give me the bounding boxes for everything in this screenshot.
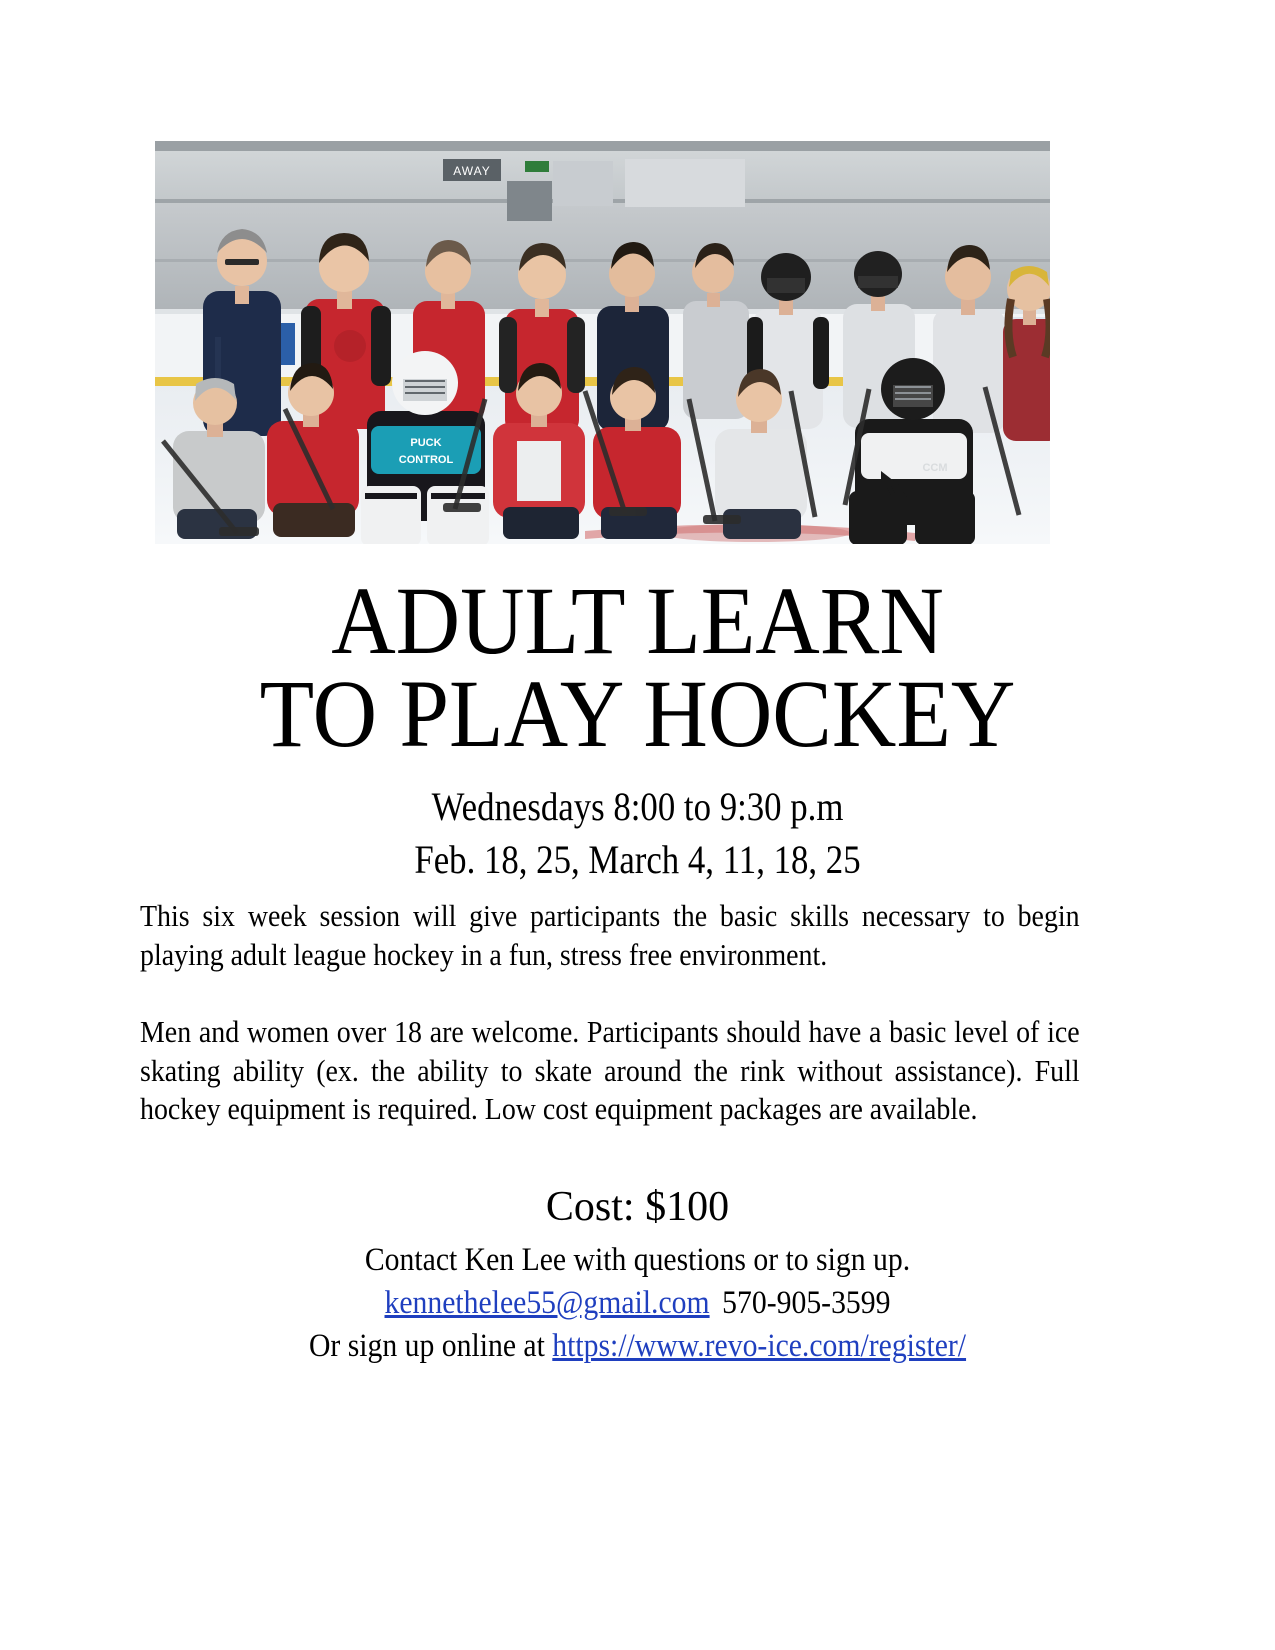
contact-instruction: Contact Ken Lee with questions or to sig… xyxy=(64,1240,1212,1280)
online-signup-prefix: Or sign up online at xyxy=(309,1328,552,1364)
description-paragraph-1: This six week session will give particip… xyxy=(140,897,1080,974)
online-signup-row: Or sign up online at https://www.revo-ic… xyxy=(64,1326,1212,1366)
email-link[interactable]: kennethelee55@gmail.com xyxy=(385,1285,710,1321)
phone-number: 570-905-3599 xyxy=(722,1285,890,1321)
session-dates: Feb. 18, 25, March 4, 11, 18, 25 xyxy=(83,838,1192,882)
session-time: Wednesdays 8:00 to 9:30 p.m xyxy=(83,785,1192,829)
group-photo: AWAY SKATE WITH US xyxy=(155,141,1050,544)
svg-text:PUCK: PUCK xyxy=(410,437,441,449)
description-paragraph-2: Men and women over 18 are welcome. Parti… xyxy=(140,1013,1080,1129)
cost-label: Cost: $100 xyxy=(0,1183,1275,1231)
svg-text:CCM: CCM xyxy=(922,462,947,474)
page-title: ADULT LEARN TO PLAY HOCKEY xyxy=(45,574,1231,760)
flyer-page: AWAY SKATE WITH US xyxy=(0,0,1275,1650)
contact-email-phone-row: kennethelee55@gmail.com570-905-3599 xyxy=(64,1283,1212,1323)
group-photo-illustration: AWAY SKATE WITH US xyxy=(155,141,1050,544)
registration-url-link[interactable]: https://www.revo-ice.com/register/ xyxy=(552,1328,966,1364)
svg-text:AWAY: AWAY xyxy=(453,164,491,178)
svg-text:CONTROL: CONTROL xyxy=(399,454,454,466)
